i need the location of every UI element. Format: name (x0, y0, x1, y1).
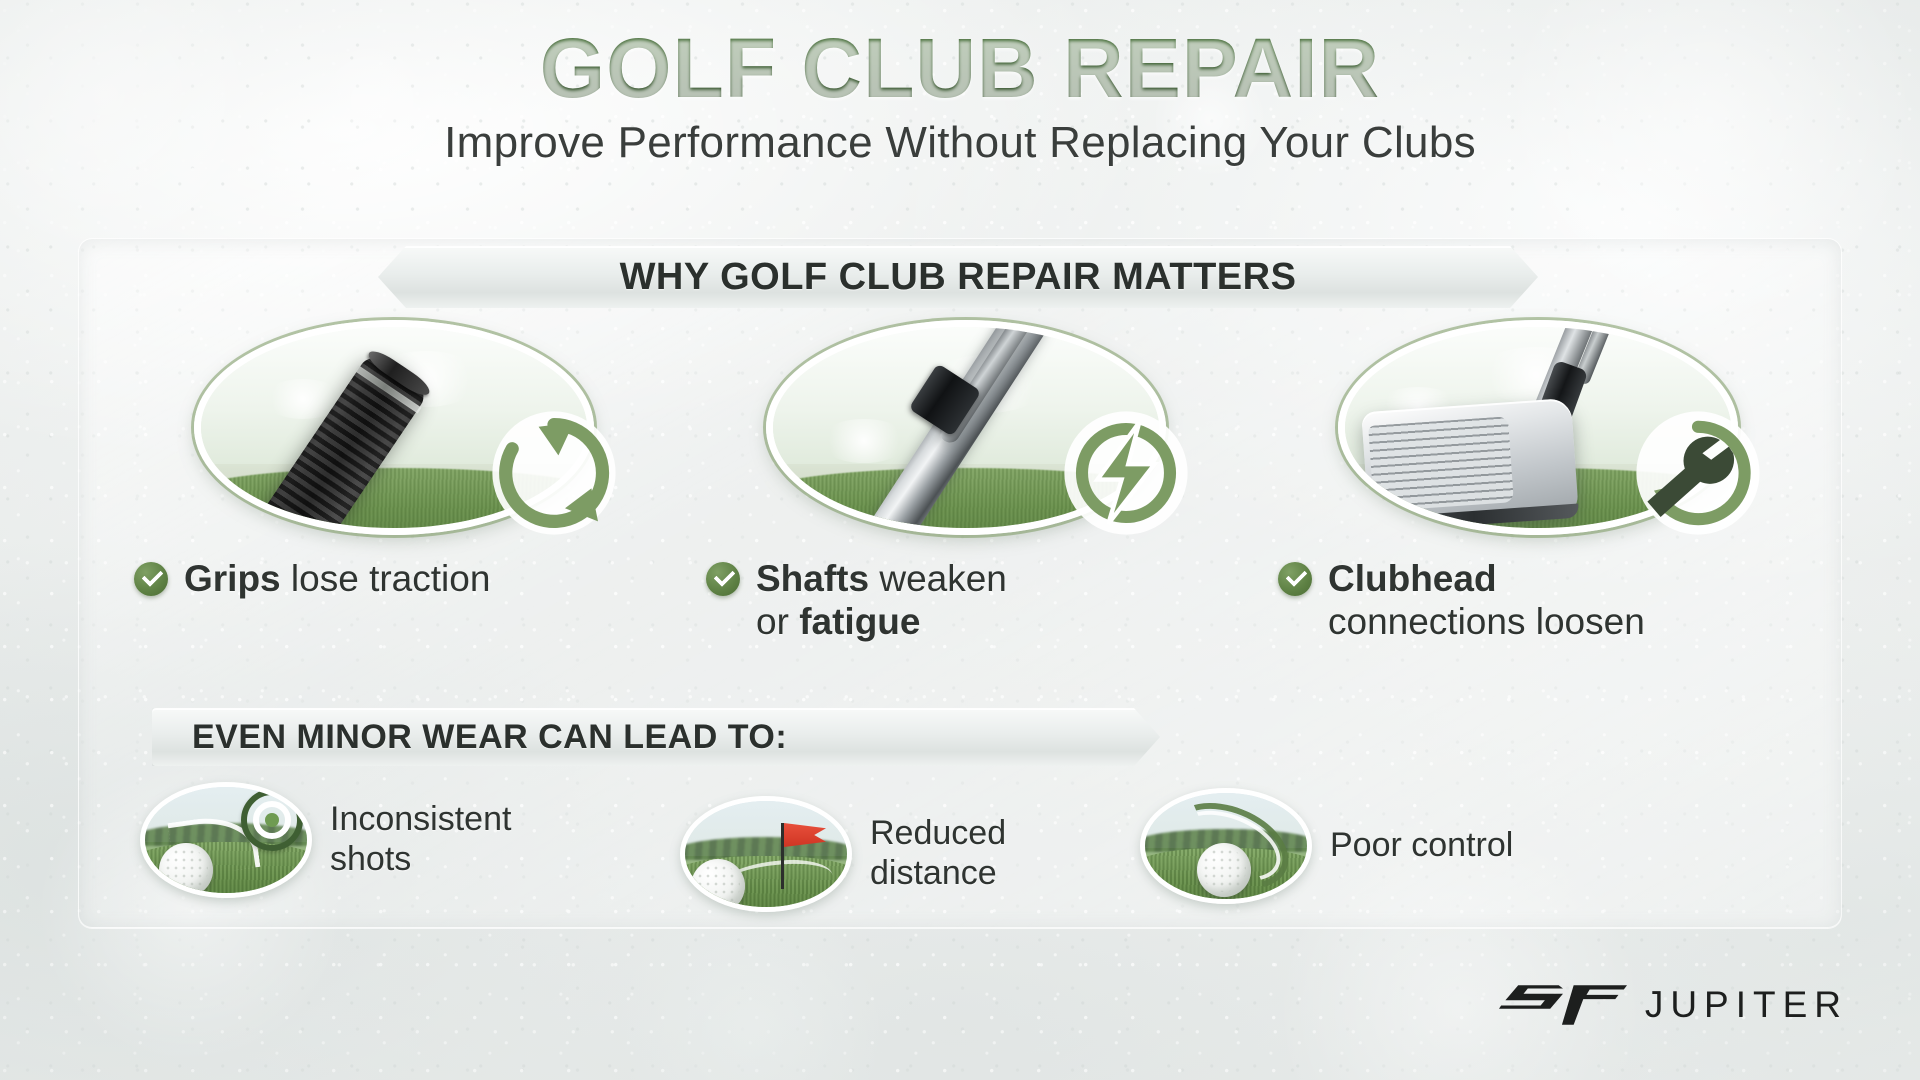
golf-ball-flag-fairway-photo (680, 796, 852, 912)
golf-ball (159, 843, 213, 897)
feature-card-clubhead: Clubheadconnections loosen (1252, 320, 1824, 644)
why-feature-row: Grips lose traction (108, 320, 1824, 670)
feature-text-grips: Grips lose traction (184, 557, 490, 600)
feature-text-clubhead: Clubheadconnections loosen (1328, 557, 1645, 644)
golf-ball (691, 859, 745, 912)
wear-consequence-row: Inconsistent shots Reduced distance (140, 782, 1840, 912)
consequence-item-inconsistent-shots: Inconsistent shots (140, 782, 511, 898)
check-circle-icon (1278, 562, 1312, 596)
page-title: GOLF CLUB REPAIR (0, 24, 1920, 112)
clubhead-body (1361, 398, 1579, 528)
consequence-item-reduced-distance: Reduced distance (680, 796, 1006, 912)
feature-text-rest: weaken (869, 558, 1007, 599)
consequence-label-line1: Poor control (1330, 826, 1513, 864)
feature-text-rest: lose traction (281, 558, 491, 599)
section-banner-why: WHY GOLF CLUB REPAIR MATTERS (378, 246, 1538, 308)
feature-caption-grips: Grips lose traction (108, 557, 680, 600)
target-rings-icon (241, 789, 303, 851)
feature-text-line2-bold: fatigue (799, 601, 920, 642)
feature-card-shafts: Shafts weakenor fatigue (680, 320, 1252, 644)
feature-caption-clubhead: Clubheadconnections loosen (1252, 557, 1824, 644)
lightning-bolt-icon (1060, 407, 1192, 539)
feature-text-bold: Shafts (756, 558, 869, 599)
consequence-item-poor-control: Poor control (1140, 788, 1513, 904)
consequence-label-line1: Inconsistent (330, 800, 511, 838)
recycle-refresh-icon (488, 407, 620, 539)
check-circle-icon (706, 562, 740, 596)
brand-logo-word: JUPITER (1645, 984, 1848, 1026)
feature-text-bold: Clubhead (1328, 558, 1497, 599)
clubhead-image-frame (1338, 320, 1738, 535)
golf-ball-swoosh-photo (1140, 788, 1312, 904)
grip-image-frame (194, 320, 594, 535)
feature-text-line2-pre: or (756, 601, 799, 642)
feature-text-shafts: Shafts weakenor fatigue (756, 557, 1007, 644)
shaft-image-frame (766, 320, 1166, 535)
section-banner-why-label: WHY GOLF CLUB REPAIR MATTERS (620, 256, 1297, 299)
wrench-repair-icon (1632, 407, 1764, 539)
flag-pole (781, 823, 784, 889)
section-banner-wear: EVEN MINOR WEAR CAN LEAD TO: (152, 708, 1160, 766)
golf-ball-target-photo (140, 782, 312, 898)
page-header: GOLF CLUB REPAIR Improve Performance Wit… (0, 24, 1920, 168)
consequence-label-line2: distance (870, 854, 997, 892)
page-subtitle: Improve Performance Without Replacing Yo… (0, 118, 1920, 168)
consequence-label-inconsistent-shots: Inconsistent shots (330, 800, 511, 880)
golf-ball (1197, 843, 1251, 897)
consequence-label-line1: Reduced (870, 814, 1006, 852)
consequence-label-line2: shots (330, 840, 411, 878)
brand-logo: JUPITER (1499, 982, 1848, 1028)
feature-text-line2-pre: connections loosen (1328, 601, 1645, 642)
check-circle-icon (134, 562, 168, 596)
feature-caption-shafts: Shafts weakenor fatigue (680, 557, 1252, 644)
section-banner-wear-label: EVEN MINOR WEAR CAN LEAD TO: (192, 718, 787, 757)
consequence-label-poor-control: Poor control (1330, 826, 1513, 866)
clubface-grooves (1368, 416, 1514, 512)
consequence-label-reduced-distance: Reduced distance (870, 814, 1006, 894)
sf-monogram-icon (1499, 982, 1627, 1028)
feature-text-bold: Grips (184, 558, 281, 599)
feature-card-grips: Grips lose traction (108, 320, 680, 600)
